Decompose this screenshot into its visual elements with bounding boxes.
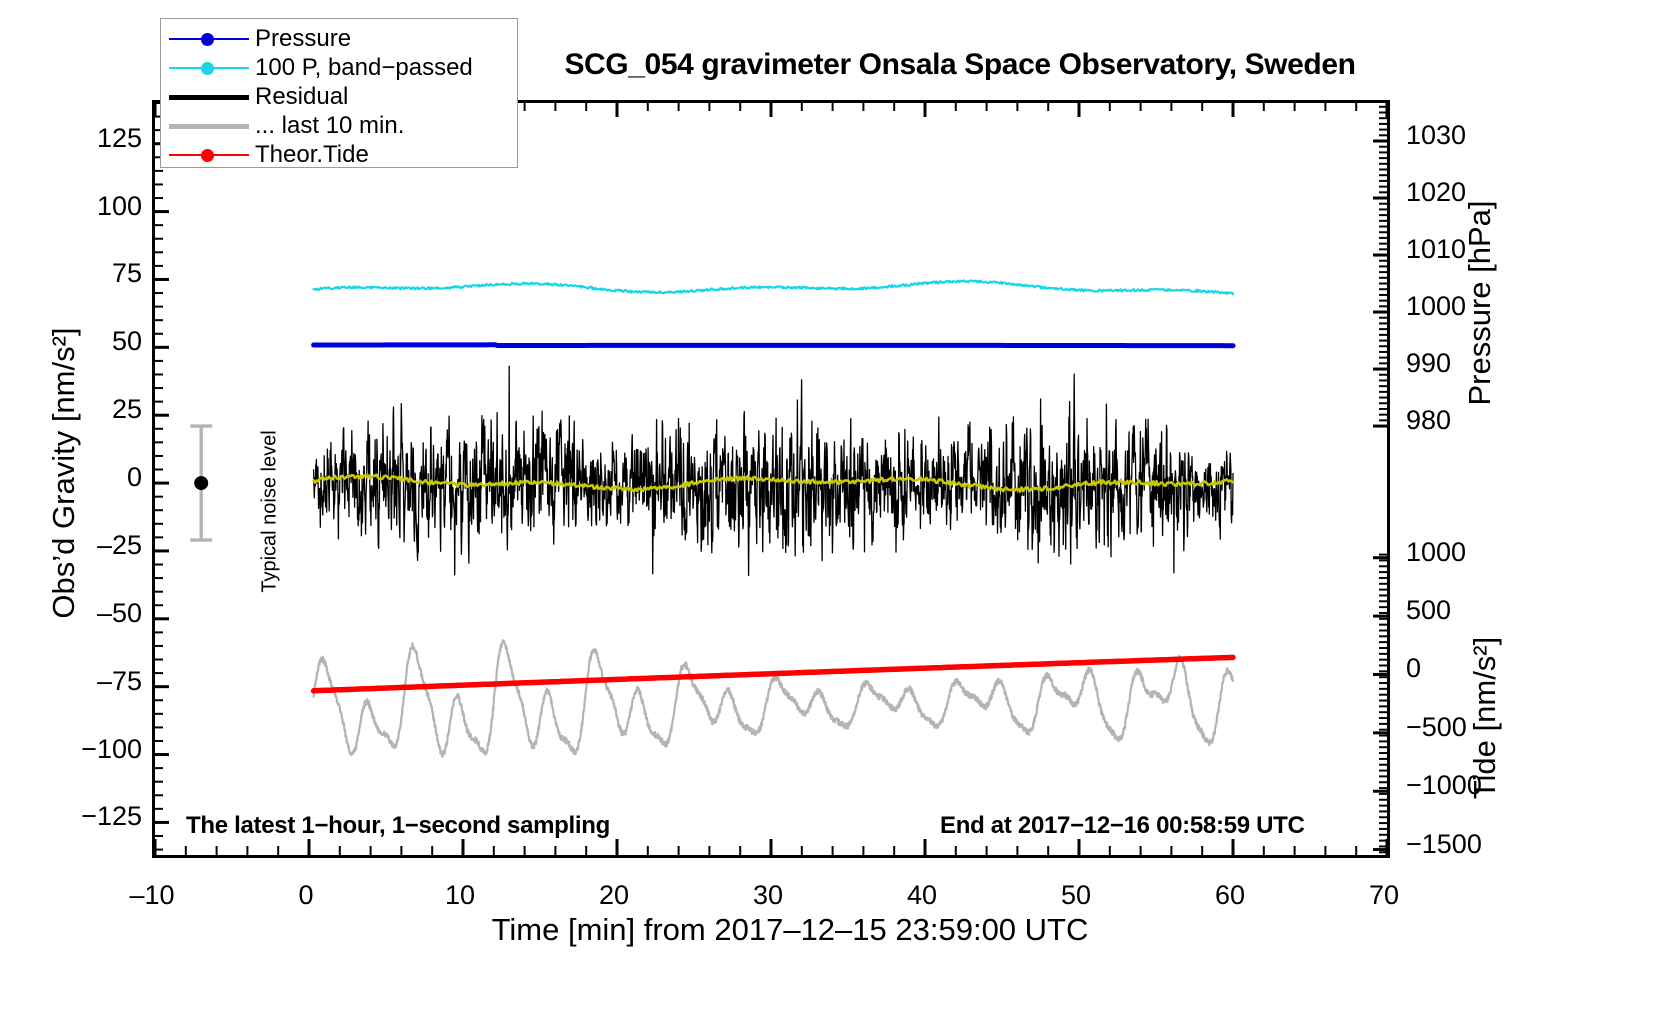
series-residual bbox=[314, 366, 1233, 575]
y-tick-label: −125 bbox=[52, 801, 142, 832]
x-axis-label: Time [min] from 2017‒12‒15 23:59:00 UTC bbox=[180, 912, 1400, 948]
noise-level-annotation: Typical noise level bbox=[259, 372, 282, 652]
legend-item-label: 100 P, band−passed bbox=[255, 54, 473, 82]
pressure-tick-label: 1030 bbox=[1406, 120, 1526, 151]
x-tick-label: 30 bbox=[723, 880, 813, 911]
footer-sampling-note: The latest 1−hour, 1−second sampling bbox=[186, 812, 610, 840]
legend-item-label: Pressure bbox=[255, 25, 351, 53]
y-tick-label: 50 bbox=[52, 326, 142, 357]
pressure-tick-label: 980 bbox=[1406, 405, 1526, 436]
y-tick-label: 25 bbox=[52, 394, 142, 425]
legend-swatch-4 bbox=[161, 141, 255, 169]
legend-item[interactable]: 100 P, band−passed bbox=[161, 54, 517, 82]
tide-tick-label: −500 bbox=[1406, 712, 1526, 743]
series-last-10-min bbox=[314, 640, 1233, 756]
legend-item[interactable]: ... last 10 min. bbox=[161, 112, 517, 140]
y-tick-label: ‒25 bbox=[52, 530, 142, 561]
y-tick-label: −100 bbox=[52, 734, 142, 765]
x-tick-label: 20 bbox=[569, 880, 659, 911]
y-tick-label: 75 bbox=[52, 258, 142, 289]
plot-area bbox=[152, 100, 1390, 858]
y-tick-label: 100 bbox=[52, 191, 142, 222]
x-tick-label: 10 bbox=[415, 880, 505, 911]
noise-level-marker bbox=[194, 476, 208, 490]
pressure-tick-label: 1020 bbox=[1406, 177, 1526, 208]
legend-swatch-1 bbox=[161, 54, 255, 82]
series-pressure bbox=[314, 345, 1233, 346]
pressure-tick-label: 1000 bbox=[1406, 291, 1526, 322]
chart-title: SCG_054 gravimeter Onsala Space Observat… bbox=[520, 48, 1400, 82]
legend-dot-icon bbox=[201, 149, 214, 162]
x-tick-label: 50 bbox=[1031, 880, 1121, 911]
legend-dot-icon bbox=[201, 33, 214, 46]
x-tick-label: 0 bbox=[261, 880, 351, 911]
chart-legend: Pressure100 P, band−passedResidual... la… bbox=[160, 18, 518, 168]
legend-swatch-3 bbox=[161, 112, 255, 140]
tide-tick-label: −1500 bbox=[1406, 829, 1526, 860]
pressure-tick-label: 990 bbox=[1406, 348, 1526, 379]
x-tick-label: 60 bbox=[1185, 880, 1275, 911]
y-tick-label: ‒75 bbox=[52, 666, 142, 697]
legend-item[interactable]: Residual bbox=[161, 83, 517, 111]
legend-line-icon bbox=[169, 95, 249, 100]
x-tick-label: 70 bbox=[1339, 880, 1429, 911]
legend-swatch-2 bbox=[161, 83, 255, 111]
legend-line-icon bbox=[169, 124, 249, 129]
plot-svg bbox=[155, 103, 1387, 855]
y-tick-label: ‒50 bbox=[52, 598, 142, 629]
tide-tick-label: −1000 bbox=[1406, 770, 1526, 801]
footer-end-time: End at 2017−12−16 00:58:59 UTC bbox=[940, 812, 1305, 840]
legend-item-label: Theor.Tide bbox=[255, 141, 369, 169]
x-tick-label: ‒10 bbox=[107, 880, 197, 911]
chart-canvas: SCG_054 gravimeter Onsala Space Observat… bbox=[0, 0, 1660, 1020]
x-tick-label: 40 bbox=[877, 880, 967, 911]
tide-tick-label: 0 bbox=[1406, 653, 1526, 684]
tide-tick-label: 1000 bbox=[1406, 537, 1526, 568]
legend-item[interactable]: Pressure bbox=[161, 25, 517, 53]
legend-item-label: ... last 10 min. bbox=[255, 112, 404, 140]
y-tick-label: 0 bbox=[52, 462, 142, 493]
legend-swatch-0 bbox=[161, 25, 255, 53]
legend-item[interactable]: Theor.Tide bbox=[161, 141, 517, 169]
series-band-passed bbox=[314, 281, 1233, 295]
pressure-tick-label: 1010 bbox=[1406, 234, 1526, 265]
legend-item-label: Residual bbox=[255, 83, 348, 111]
legend-dot-icon bbox=[201, 62, 214, 75]
y-tick-label: 125 bbox=[52, 123, 142, 154]
tide-tick-label: 500 bbox=[1406, 595, 1526, 626]
